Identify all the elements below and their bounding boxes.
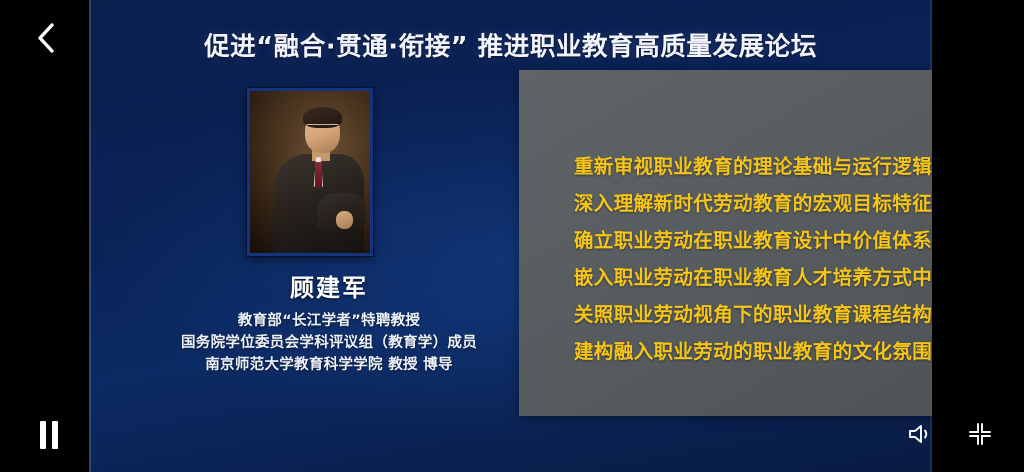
portrait-hand	[336, 211, 353, 229]
bullet-item: 确立职业劳动在职业教育设计中价值体系	[519, 222, 932, 259]
content-panel: 重新审视职业教育的理论基础与运行逻辑 深入理解新时代劳动教育的宏观目标特征 确立…	[519, 70, 932, 416]
bullet-item: 关照职业劳动视角下的职业教育课程结构	[519, 296, 932, 333]
fullscreen-button[interactable]	[960, 414, 1000, 454]
back-button[interactable]	[24, 16, 68, 60]
pause-button[interactable]	[26, 412, 72, 458]
video-player: 促进“融合·贯通·衔接” 推进职业教育高质量发展论坛 顾建军 教育部“长江学者”…	[0, 0, 1024, 472]
bullet-list: 重新审视职业教育的理论基础与运行逻辑 深入理解新时代劳动教育的宏观目标特征 确立…	[519, 148, 932, 370]
presentation-slide: 促进“融合·贯通·衔接” 推进职业教育高质量发展论坛 顾建军 教育部“长江学者”…	[89, 0, 932, 472]
chevron-left-icon	[35, 21, 57, 55]
bullet-item: 建构融入职业劳动的职业教育的文化氛围	[519, 333, 932, 370]
credential-line: 南京师范大学教育科学学院 教授 博导	[149, 354, 509, 376]
credential-line: 国务院学位委员会学科评议组（教育学）成员	[149, 332, 509, 354]
credential-line: 教育部“长江学者”特聘教授	[149, 310, 509, 332]
bullet-item: 深入理解新时代劳动教育的宏观目标特征	[519, 185, 932, 222]
speaker-name: 顾建军	[149, 268, 509, 303]
pause-icon	[40, 421, 46, 449]
speaker-portrait	[247, 88, 373, 256]
speaker-credentials: 教育部“长江学者”特聘教授 国务院学位委员会学科评议组（教育学）成员 南京师范大…	[149, 310, 509, 376]
exit-fullscreen-icon	[968, 422, 992, 446]
volume-button[interactable]	[900, 414, 940, 454]
portrait-glasses	[306, 124, 338, 132]
speaker-volume-icon	[907, 422, 933, 446]
pause-icon-bar-2	[52, 421, 58, 449]
portrait-tie	[315, 162, 322, 188]
bullet-item: 嵌入职业劳动在职业教育人才培养方式中	[519, 259, 932, 296]
slide-left-edge	[89, 0, 91, 472]
bullet-item: 重新审视职业教育的理论基础与运行逻辑	[519, 148, 932, 185]
slide-title: 促进“融合·贯通·衔接” 推进职业教育高质量发展论坛	[89, 26, 932, 63]
